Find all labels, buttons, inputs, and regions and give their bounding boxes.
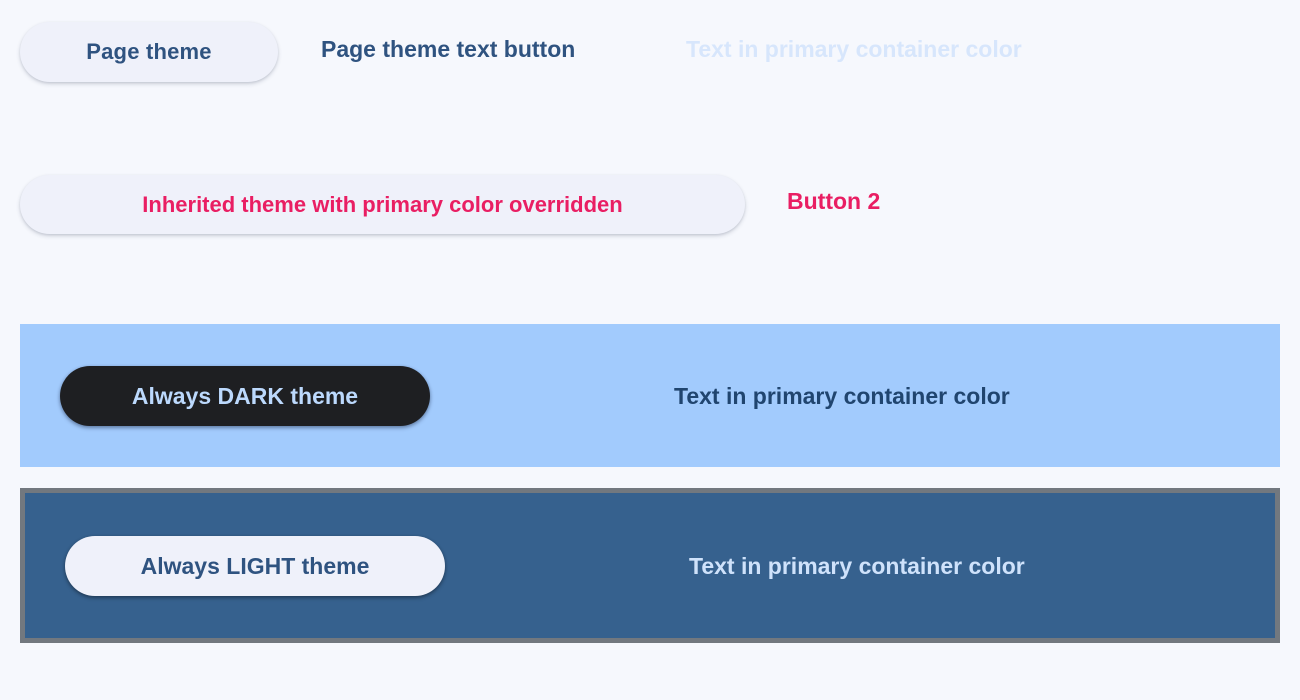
light-panel-primary-container-label: Text in primary container color [689,553,1025,580]
inherited-theme-row: Inherited theme with primary color overr… [0,150,1300,260]
inherited-theme-elevated-button[interactable]: Inherited theme with primary color overr… [20,175,745,234]
page-theme-text-button[interactable]: Page theme text button [321,36,575,63]
page-theme-row: Page theme Page theme text button Text i… [0,0,1300,104]
always-light-theme-panel-border: Always LIGHT theme Text in primary conta… [20,488,1280,643]
always-light-theme-button[interactable]: Always LIGHT theme [65,536,445,596]
always-dark-theme-button[interactable]: Always DARK theme [60,366,430,426]
dark-panel-primary-container-label: Text in primary container color [674,383,1010,410]
theme-demo-page: Page theme Page theme text button Text i… [0,0,1300,700]
always-dark-theme-panel: Always DARK theme Text in primary contai… [20,324,1280,467]
page-theme-elevated-button[interactable]: Page theme [20,22,278,82]
inherited-theme-text-button[interactable]: Button 2 [787,188,880,215]
page-theme-primary-container-label: Text in primary container color [686,36,1022,63]
always-light-theme-panel: Always LIGHT theme Text in primary conta… [25,493,1275,638]
